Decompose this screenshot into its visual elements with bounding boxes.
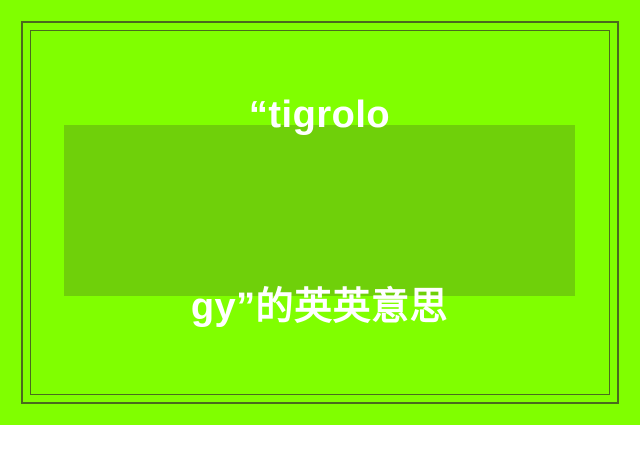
title-card-canvas: “tigrolo gy”的英英意思	[0, 0, 640, 425]
title-text-block: “tigrolo gy”的英英意思	[191, 0, 448, 467]
title-panel: “tigrolo gy”的英英意思	[64, 125, 575, 296]
title-line-1: “tigrolo	[191, 83, 448, 147]
title-line-2: gy”的英英意思	[191, 275, 448, 339]
